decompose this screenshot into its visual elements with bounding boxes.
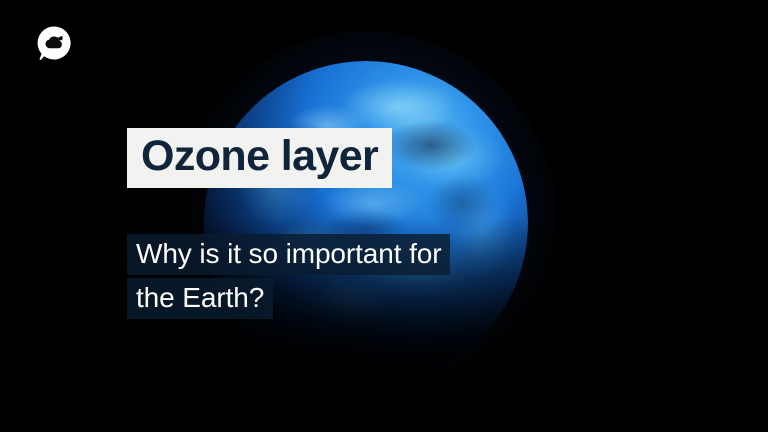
subtitle-line-2: the Earth? bbox=[127, 278, 273, 319]
headline-subtitle: Why is it so important for the Earth? bbox=[127, 234, 450, 319]
globe-terminator-shading bbox=[204, 61, 528, 385]
headline-title: Ozone layer bbox=[127, 128, 392, 188]
cloud-chat-bubble-icon bbox=[36, 25, 72, 61]
channel-logo[interactable] bbox=[36, 25, 72, 61]
video-frame: Ozone layer Why is it so important for t… bbox=[0, 0, 768, 432]
subtitle-line-1: Why is it so important for bbox=[127, 234, 450, 275]
earth-globe-image bbox=[204, 61, 528, 385]
headline-title-text: Ozone layer bbox=[141, 133, 378, 180]
